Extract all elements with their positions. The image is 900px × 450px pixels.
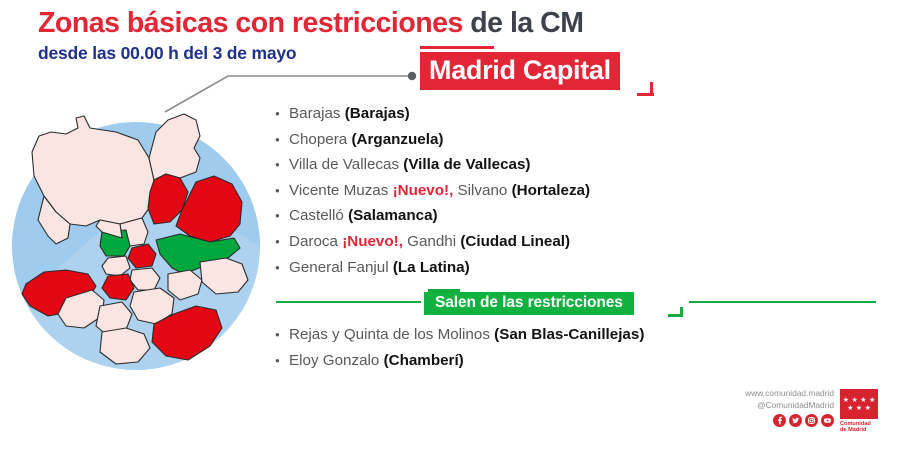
madrid-districts-map [4,84,272,374]
zone-name: Vicente Muzas [289,182,393,199]
star-icon: ★ [869,397,875,404]
zone-name: Rejas y Quinta de los Molinos [289,326,494,343]
list-item: Vicente Muzas ¡Nuevo!, Silvano (Hortalez… [275,178,590,204]
header: Zonas básicas con restricciones de la CM… [38,6,778,64]
district-name: (Salamanca) [348,207,437,224]
zone-name: Eloy Gonzalo [289,352,384,369]
district-name: (Arganzuela) [351,131,443,148]
list-item: General Fanjul (La Latina) [275,255,590,281]
restricted-zones-list: Barajas (Barajas) Chopera (Arganzuela) V… [275,101,590,280]
star-icon: ★ [860,397,866,404]
youtube-icon[interactable] [821,414,834,427]
instagram-icon[interactable] [805,414,818,427]
star-icon: ★ [847,405,853,412]
comunidad-de-madrid-logo-mark: ★ ★ ★ ★ ★ ★ ★ [840,389,878,419]
green-divider-right [689,301,876,303]
district-name: (San Blas-Canillejas) [494,326,644,343]
green-divider-left [276,301,421,303]
zone-name: General Fanjul [289,259,393,276]
salen-de-las-restricciones-badge: Salen de las restricciones [424,292,634,315]
logo-text-line2: de Madrid [840,427,880,433]
nuevo-tag: ¡Nuevo!, [393,182,454,199]
star-icon: ★ [843,397,849,404]
badge-accent-top-line [420,46,494,49]
page-title: Zonas básicas con restricciones de la CM [38,6,778,40]
district-name: (Ciudad Lineal) [460,233,570,250]
twitter-icon[interactable] [789,414,802,427]
released-zones-list: Rejas y Quinta de los Molinos (San Blas-… [275,322,644,373]
district-name: (Barajas) [345,105,410,122]
page-title-red: Zonas básicas con restricciones [38,7,463,39]
district-name: (Chamberí) [384,352,464,369]
madrid-capital-badge: Madrid Capital [420,52,620,90]
nuevo-tag: ¡Nuevo!, [342,233,403,250]
footer: www.comunidad.madrid @ComunidadMadrid ★ … [700,388,896,446]
list-item: Villa de Vallecas (Villa de Vallecas) [275,152,590,178]
social-links-row [773,414,834,427]
comunidad-de-madrid-logo-text: Comunidad de Madrid [840,421,880,434]
list-item: Chopera (Arganzuela) [275,127,590,153]
district-name: (Hortaleza) [512,182,590,199]
list-item: Castelló (Salamanca) [275,203,590,229]
star-icon: ★ [856,405,862,412]
logo-star-row-bottom: ★ ★ ★ [840,405,878,412]
zone-name: Barajas [289,105,345,122]
green-accent-corner-horizontal [668,314,683,317]
comunidad-de-madrid-logo: ★ ★ ★ ★ ★ ★ ★ Comunidad de Madrid [840,389,896,434]
zone-name-secondary: Gandhi [403,233,460,250]
zone-name: Castelló [289,207,348,224]
zone-name: Daroca [289,233,342,250]
list-item: Daroca ¡Nuevo!, Gandhi (Ciudad Lineal) [275,229,590,255]
page-title-dark: de la CM [463,7,584,39]
district-name: (La Latina) [393,259,470,276]
list-item: Rejas y Quinta de los Molinos (San Blas-… [275,322,644,348]
district-name: (Villa de Vallecas) [403,156,530,173]
badge-accent-corner-horizontal [637,93,654,96]
zone-name: Villa de Vallecas [289,156,403,173]
footer-social-handle[interactable]: @ComunidadMadrid [745,400,834,412]
list-item: Barajas (Barajas) [275,101,590,127]
zone-name-secondary: Silvano [453,182,511,199]
zone-name: Chopera [289,131,351,148]
footer-text-block: www.comunidad.madrid @ComunidadMadrid [745,388,834,411]
facebook-icon[interactable] [773,414,786,427]
list-item: Eloy Gonzalo (Chamberí) [275,348,644,374]
star-icon: ★ [865,405,871,412]
released-section-header: Salen de las restricciones [276,289,876,317]
page-subtitle: desde las 00.00 h del 3 de mayo [38,43,778,64]
footer-website-url[interactable]: www.comunidad.madrid [745,388,834,400]
logo-star-row-top: ★ ★ ★ ★ [840,397,878,404]
star-icon: ★ [851,397,857,404]
